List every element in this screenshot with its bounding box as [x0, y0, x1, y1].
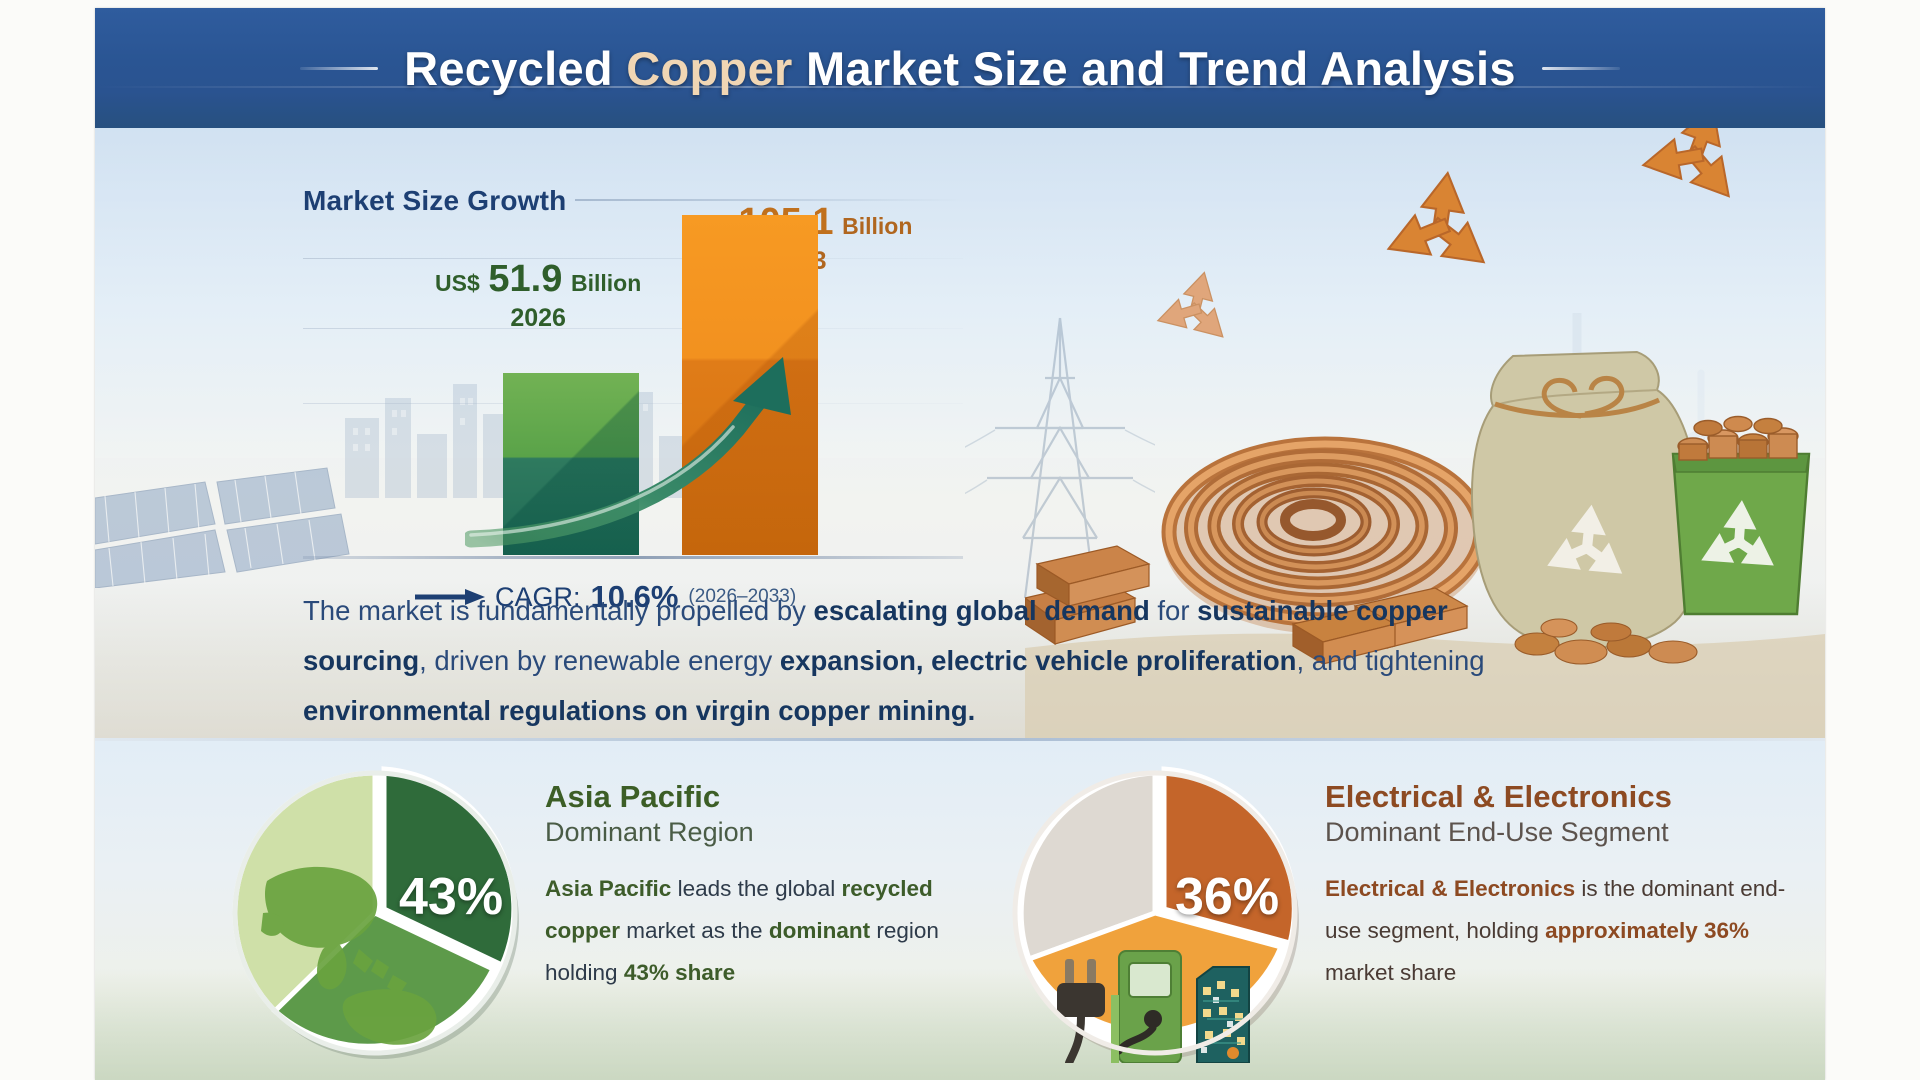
region-body-bold-1: Asia Pacific — [545, 876, 671, 901]
segment-pie-chart: 36% — [1007, 763, 1307, 1063]
bar-label-2026: US$ 51.9 Billion 2026 — [435, 258, 641, 333]
currency-2026: US$ — [435, 270, 480, 296]
region-body-text-1: leads the global — [671, 876, 841, 901]
unit-2033: Billion — [842, 213, 912, 239]
region-body-bold-3: dominant — [769, 918, 870, 943]
summary-bold-4: environmental regulations on virgin copp… — [303, 695, 975, 726]
bottom-panel: 43% Asia Pacific Dominant Region Asia Pa… — [95, 741, 1825, 1080]
segment-heading: Electrical & Electronics — [1325, 779, 1795, 815]
recycle-symbol-corner — [1640, 128, 1744, 209]
screenshot-root: Recycled Copper Market Size and Trend An… — [0, 0, 1920, 1080]
summary-text-1: The market is fundamentally propelled by — [303, 595, 814, 626]
charging-station-icon — [1111, 951, 1181, 1063]
summary-paragraph: The market is fundamentally propelled by… — [303, 586, 1533, 736]
region-subheading: Dominant Region — [545, 817, 965, 848]
segment-stat-block: 36% Electrical & Electronics Dominant En… — [995, 751, 1795, 1080]
title-rest: Market Size and Trend Analysis — [793, 42, 1516, 95]
region-body-bold-4: 43% share — [624, 960, 735, 985]
title-word-copper: Copper — [626, 42, 792, 95]
title-rule-right — [1542, 67, 1620, 70]
summary-bold-1: escalating global demand — [814, 595, 1150, 626]
region-heading: Asia Pacific — [545, 779, 965, 815]
segment-body: Electrical & Electronics is the dominant… — [1325, 868, 1795, 994]
segment-body-bold-1: Electrical & Electronics — [1325, 876, 1575, 901]
title-word-recycled: Recycled — [404, 42, 626, 95]
segment-pie-percent: 36% — [1175, 867, 1279, 927]
chart-heading: Market Size Growth — [303, 185, 566, 217]
segment-body-bold-2: approximately 36% — [1545, 918, 1749, 943]
summary-text-3: , driven by renewable energy — [419, 645, 780, 676]
page-title: Recycled Copper Market Size and Trend An… — [404, 41, 1516, 96]
region-pie-percent: 43% — [399, 867, 503, 927]
region-stat-block: 43% Asia Pacific Dominant Region Asia Pa… — [215, 751, 975, 1080]
growth-trend-arrow — [465, 323, 885, 563]
infographic-header: Recycled Copper Market Size and Trend An… — [95, 8, 1825, 128]
summary-text-4: , and tightening — [1296, 645, 1484, 676]
unit-2026: Billion — [571, 270, 641, 296]
title-rule-left — [300, 67, 378, 70]
market-size-chart: Market Size Growth US$ 51.9 Billion 2026… — [275, 153, 995, 633]
summary-bold-3: expansion, electric vehicle proliferatio… — [780, 645, 1297, 676]
segment-body-text-2: market share — [1325, 960, 1456, 985]
region-body: Asia Pacific leads the global recycled c… — [545, 868, 965, 994]
infographic-card: Recycled Copper Market Size and Trend An… — [95, 8, 1825, 1080]
recycle-symbol-small — [1154, 269, 1233, 347]
value-2026: 51.9 — [488, 258, 562, 300]
title-wrap: Recycled Copper Market Size and Trend An… — [300, 41, 1620, 96]
circuit-board-icon — [1197, 967, 1249, 1063]
region-stat-text: Asia Pacific Dominant Region Asia Pacifi… — [545, 779, 965, 994]
segment-subheading: Dominant End-Use Segment — [1325, 817, 1795, 848]
region-body-text-2: market as the — [620, 918, 769, 943]
segment-stat-text: Electrical & Electronics Dominant End-Us… — [1325, 779, 1795, 994]
green-recycling-bin — [1673, 417, 1809, 615]
summary-text-2: for — [1150, 595, 1197, 626]
recycle-symbol-large — [1381, 170, 1497, 279]
region-pie-chart: 43% — [227, 763, 527, 1063]
